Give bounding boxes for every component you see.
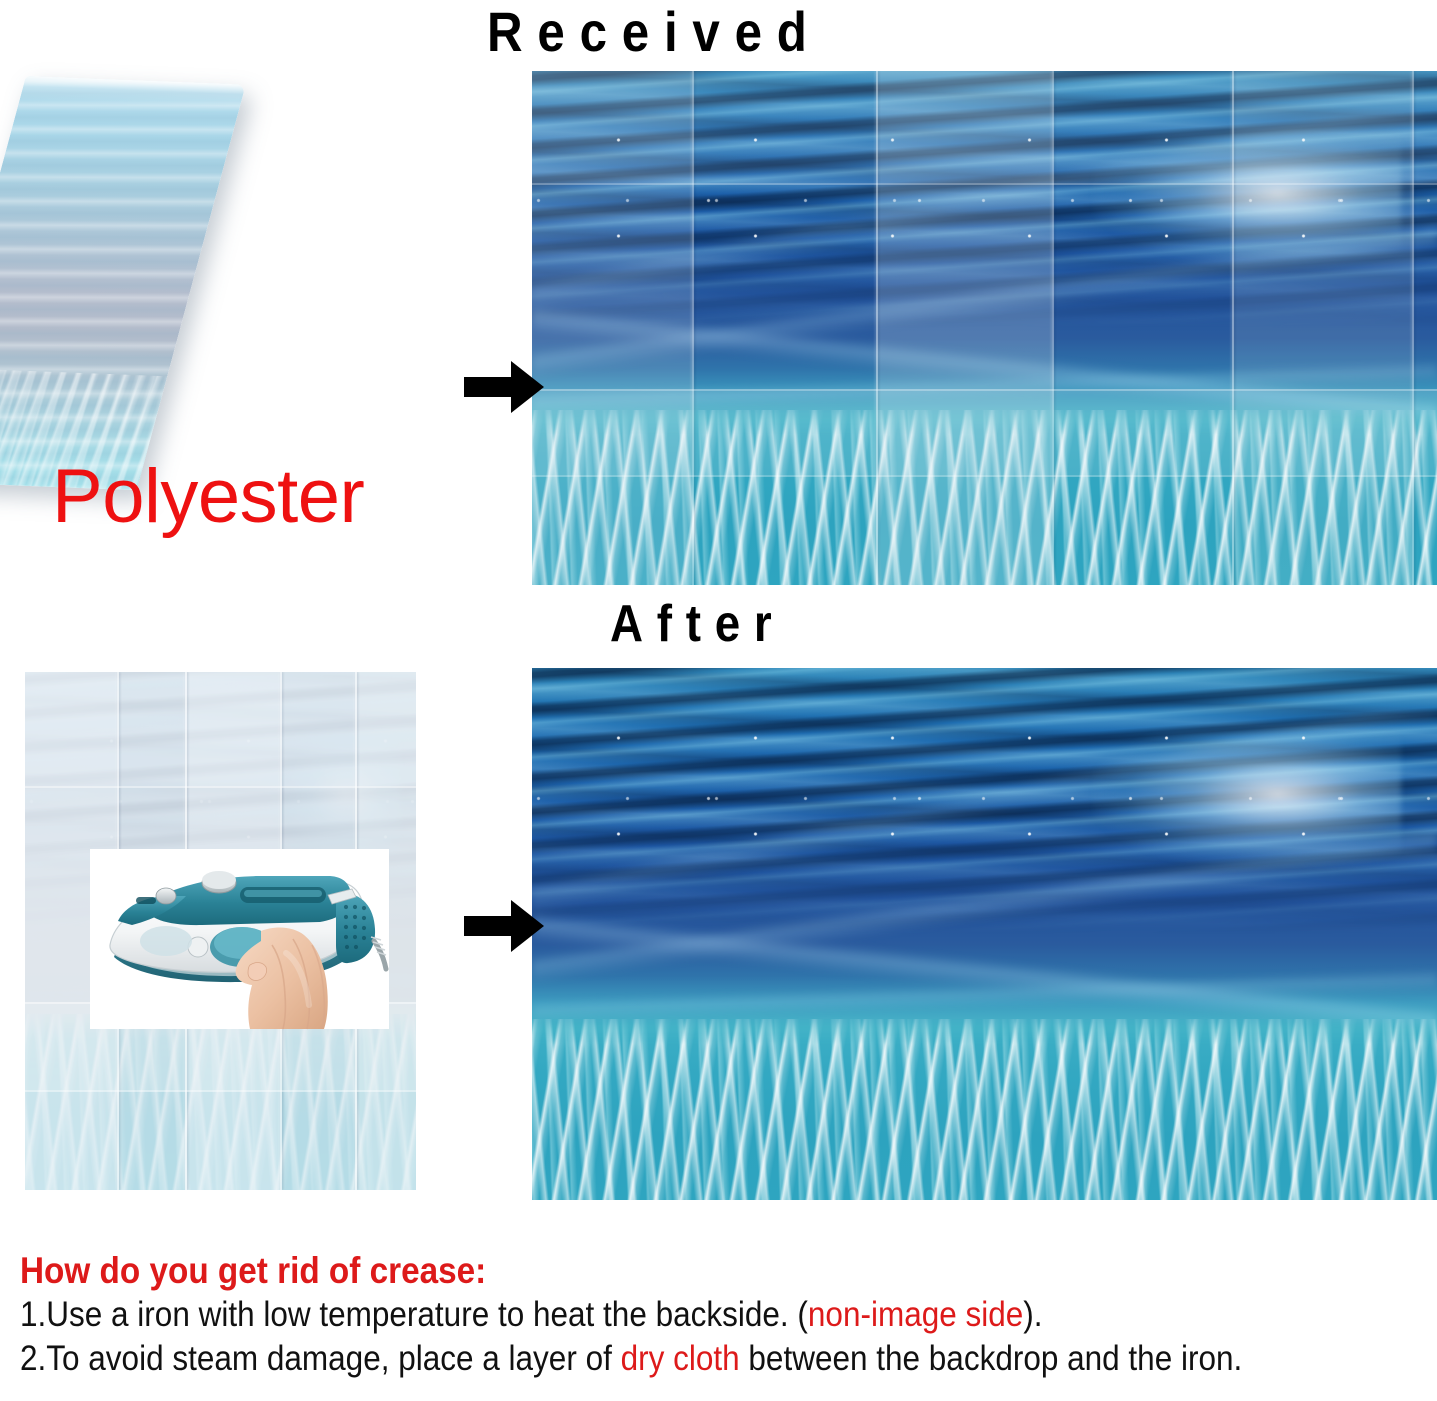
arrow-right-icon xyxy=(462,359,546,415)
sea-floor-caustics-layer xyxy=(532,1019,1437,1200)
section-title-received: Received xyxy=(487,2,822,62)
bubbles-layer xyxy=(532,81,1437,312)
steam-iron-icon xyxy=(90,849,389,1029)
step2-highlight: dry cloth xyxy=(621,1339,740,1378)
instruction-step-2: 2.To avoid steam damage, place a layer o… xyxy=(20,1337,1289,1381)
step2-prefix: 2.To avoid steam damage, place a layer o… xyxy=(20,1339,621,1378)
polyester-fabric-swatch xyxy=(0,76,246,490)
bubbles-layer xyxy=(532,679,1437,918)
instructions-heading: How do you get rid of crease: xyxy=(20,1248,1289,1293)
care-instructions-block: How do you get rid of crease: 1.Use a ir… xyxy=(20,1248,1430,1381)
fabric-swatch-panel xyxy=(12,72,392,492)
received-backdrop-photo xyxy=(532,71,1437,585)
section-title-after: After xyxy=(610,596,785,652)
iron-demo-photo xyxy=(90,849,389,1029)
instruction-step-1: 1.Use a iron with low temperature to hea… xyxy=(20,1293,1289,1337)
step1-suffix: ). xyxy=(1023,1295,1042,1334)
sea-floor-caustics-layer xyxy=(532,410,1437,585)
material-label-polyester: Polyester xyxy=(52,455,364,539)
arrow-right-icon xyxy=(462,898,546,954)
step2-suffix: between the backdrop and the iron. xyxy=(740,1339,1243,1378)
after-backdrop-photo xyxy=(532,668,1437,1200)
step1-prefix: 1.Use a iron with low temperature to hea… xyxy=(20,1295,808,1334)
step1-highlight: non-image side xyxy=(808,1295,1023,1334)
